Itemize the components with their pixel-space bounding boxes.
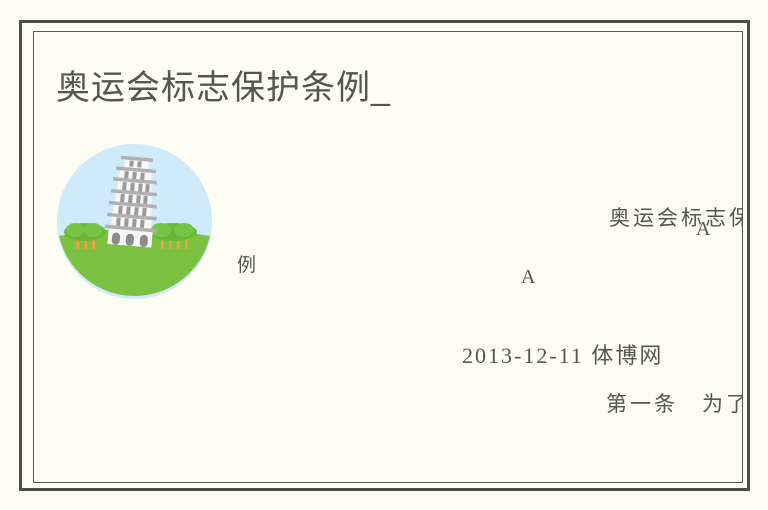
page-title: 奥运会标志保护条例_ (56, 66, 391, 110)
publish-date-and-source: 2013-12-11 体博网 (462, 338, 663, 370)
scanned-article-first: 第一条 为了 (606, 388, 743, 418)
scanned-marker-a-upper: A (696, 218, 710, 241)
scanned-marker-plus: + (741, 291, 743, 317)
leaning-tower-of-pisa-icon (57, 144, 212, 299)
scanned-fragment-char: 例 (237, 250, 256, 277)
document-page: 奥运会标志保护条例_ (0, 0, 768, 510)
scanned-heading-text: 奥运会标志保护条例 (609, 202, 743, 232)
scanned-marker-a-lower: A (521, 266, 535, 289)
page-content-area: 奥运会标志保护条例_ (34, 32, 743, 483)
